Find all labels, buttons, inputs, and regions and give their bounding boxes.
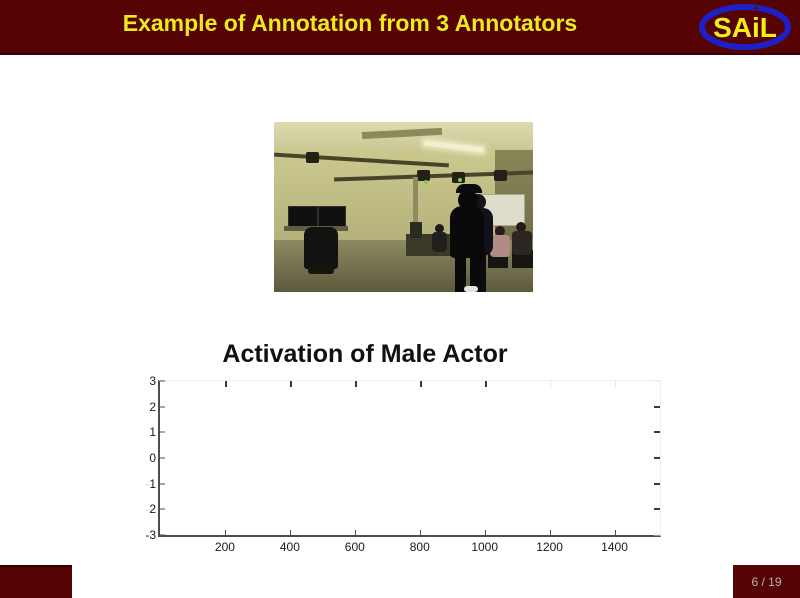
chart-y-tick-mark-right [654, 483, 660, 485]
chart-x-tick-label: 800 [410, 540, 430, 554]
chart-y-tick-mark-right [654, 406, 660, 408]
chart-x-tick-mark [615, 530, 616, 535]
chart-y-tick-mark-right [654, 381, 660, 382]
chart-x-tick-mark-top [290, 381, 292, 387]
photo-seated-observer [432, 232, 447, 252]
slide-header: Example of Annotation from 3 Annotators … [0, 0, 800, 55]
chart-x-tick-label: 200 [215, 540, 235, 554]
chart-x-tick-mark-top [225, 381, 227, 387]
photo-camera-led [458, 178, 462, 182]
chart-x-tick-mark [485, 530, 486, 535]
chart-y-tick-mark [160, 483, 165, 484]
photo-speaker [410, 222, 422, 238]
chart-y-tick-mark-right [654, 508, 660, 510]
photo-office-chair [304, 227, 338, 269]
chart-x-tick-label: 1000 [471, 540, 498, 554]
chart-x-tick-mark-top [420, 381, 422, 387]
chart-x-tick-mark-top [550, 381, 551, 387]
chart-y-tick-mark-right [654, 535, 660, 536]
chart-x-tick-mark [225, 530, 226, 535]
chart-y-tick-mark-right [654, 457, 660, 459]
page-indicator: 6 / 19 [733, 565, 800, 598]
chart-y-tick-label: 1 [149, 425, 156, 439]
photo-camera-led [424, 180, 428, 184]
chart-y-tick-label: 3 [149, 374, 156, 388]
chart-x-tick-mark [420, 530, 421, 535]
svg-text:SAiL: SAiL [713, 12, 777, 43]
chart-x-tick-mark-top [485, 381, 487, 387]
annotation-session-photo [274, 122, 533, 292]
photo-seated-observer [490, 235, 510, 257]
chart-y-tick-label: 2 [149, 400, 156, 414]
chart-y-tick-mark-right [654, 431, 660, 433]
photo-monitor [318, 206, 346, 228]
photo-seated-observer [512, 231, 532, 255]
photo-office-chair-base [308, 265, 334, 274]
page-title: Example of Annotation from 3 Annotators [0, 10, 700, 37]
chart-y-tick-mark [160, 535, 165, 536]
chart-y-tick-mark [160, 432, 165, 433]
chart-y-tick-label: -3 [145, 528, 156, 542]
chart-x-tick-mark [355, 530, 356, 535]
photo-mocap-camera [417, 170, 430, 181]
chart-plot-area: 3210-1-2-3 200400600800100012001400 [158, 380, 661, 537]
footer-accent-block [0, 565, 72, 598]
photo-actor-shoe [464, 286, 478, 292]
photo-mocap-camera [494, 170, 507, 181]
photo-actor-male [450, 206, 484, 258]
chart-x-tick-mark-top [615, 381, 616, 387]
chart-y-tick-mark [160, 509, 165, 510]
chart-y-tick-label: -2 [145, 502, 156, 516]
chart-x-tick-mark [290, 530, 291, 535]
slide-canvas: Example of Annotation from 3 Annotators … [0, 0, 800, 598]
activation-chart: Activation of Male Actor 3210-1-2-3 2004… [130, 340, 670, 565]
photo-content [274, 122, 533, 292]
chart-x-tick-label: 400 [280, 540, 300, 554]
photo-monitor [288, 206, 318, 228]
chart-x-tick-label: 600 [345, 540, 365, 554]
chart-y-tick-mark [160, 458, 165, 459]
chart-y-tick-mark [160, 381, 165, 382]
chart-x-tick-label: 1200 [536, 540, 563, 554]
sail-logo: SAiL [698, 3, 792, 51]
chart-y-tick-label: -1 [145, 477, 156, 491]
chart-x-tick-mark [550, 530, 551, 535]
photo-mocap-camera [306, 152, 319, 163]
chart-x-tick-label: 1400 [601, 540, 628, 554]
chart-title: Activation of Male Actor [130, 340, 600, 369]
chart-x-tick-mark-top [355, 381, 357, 387]
chart-y-tick-label: 0 [149, 451, 156, 465]
chart-y-tick-mark [160, 406, 165, 407]
